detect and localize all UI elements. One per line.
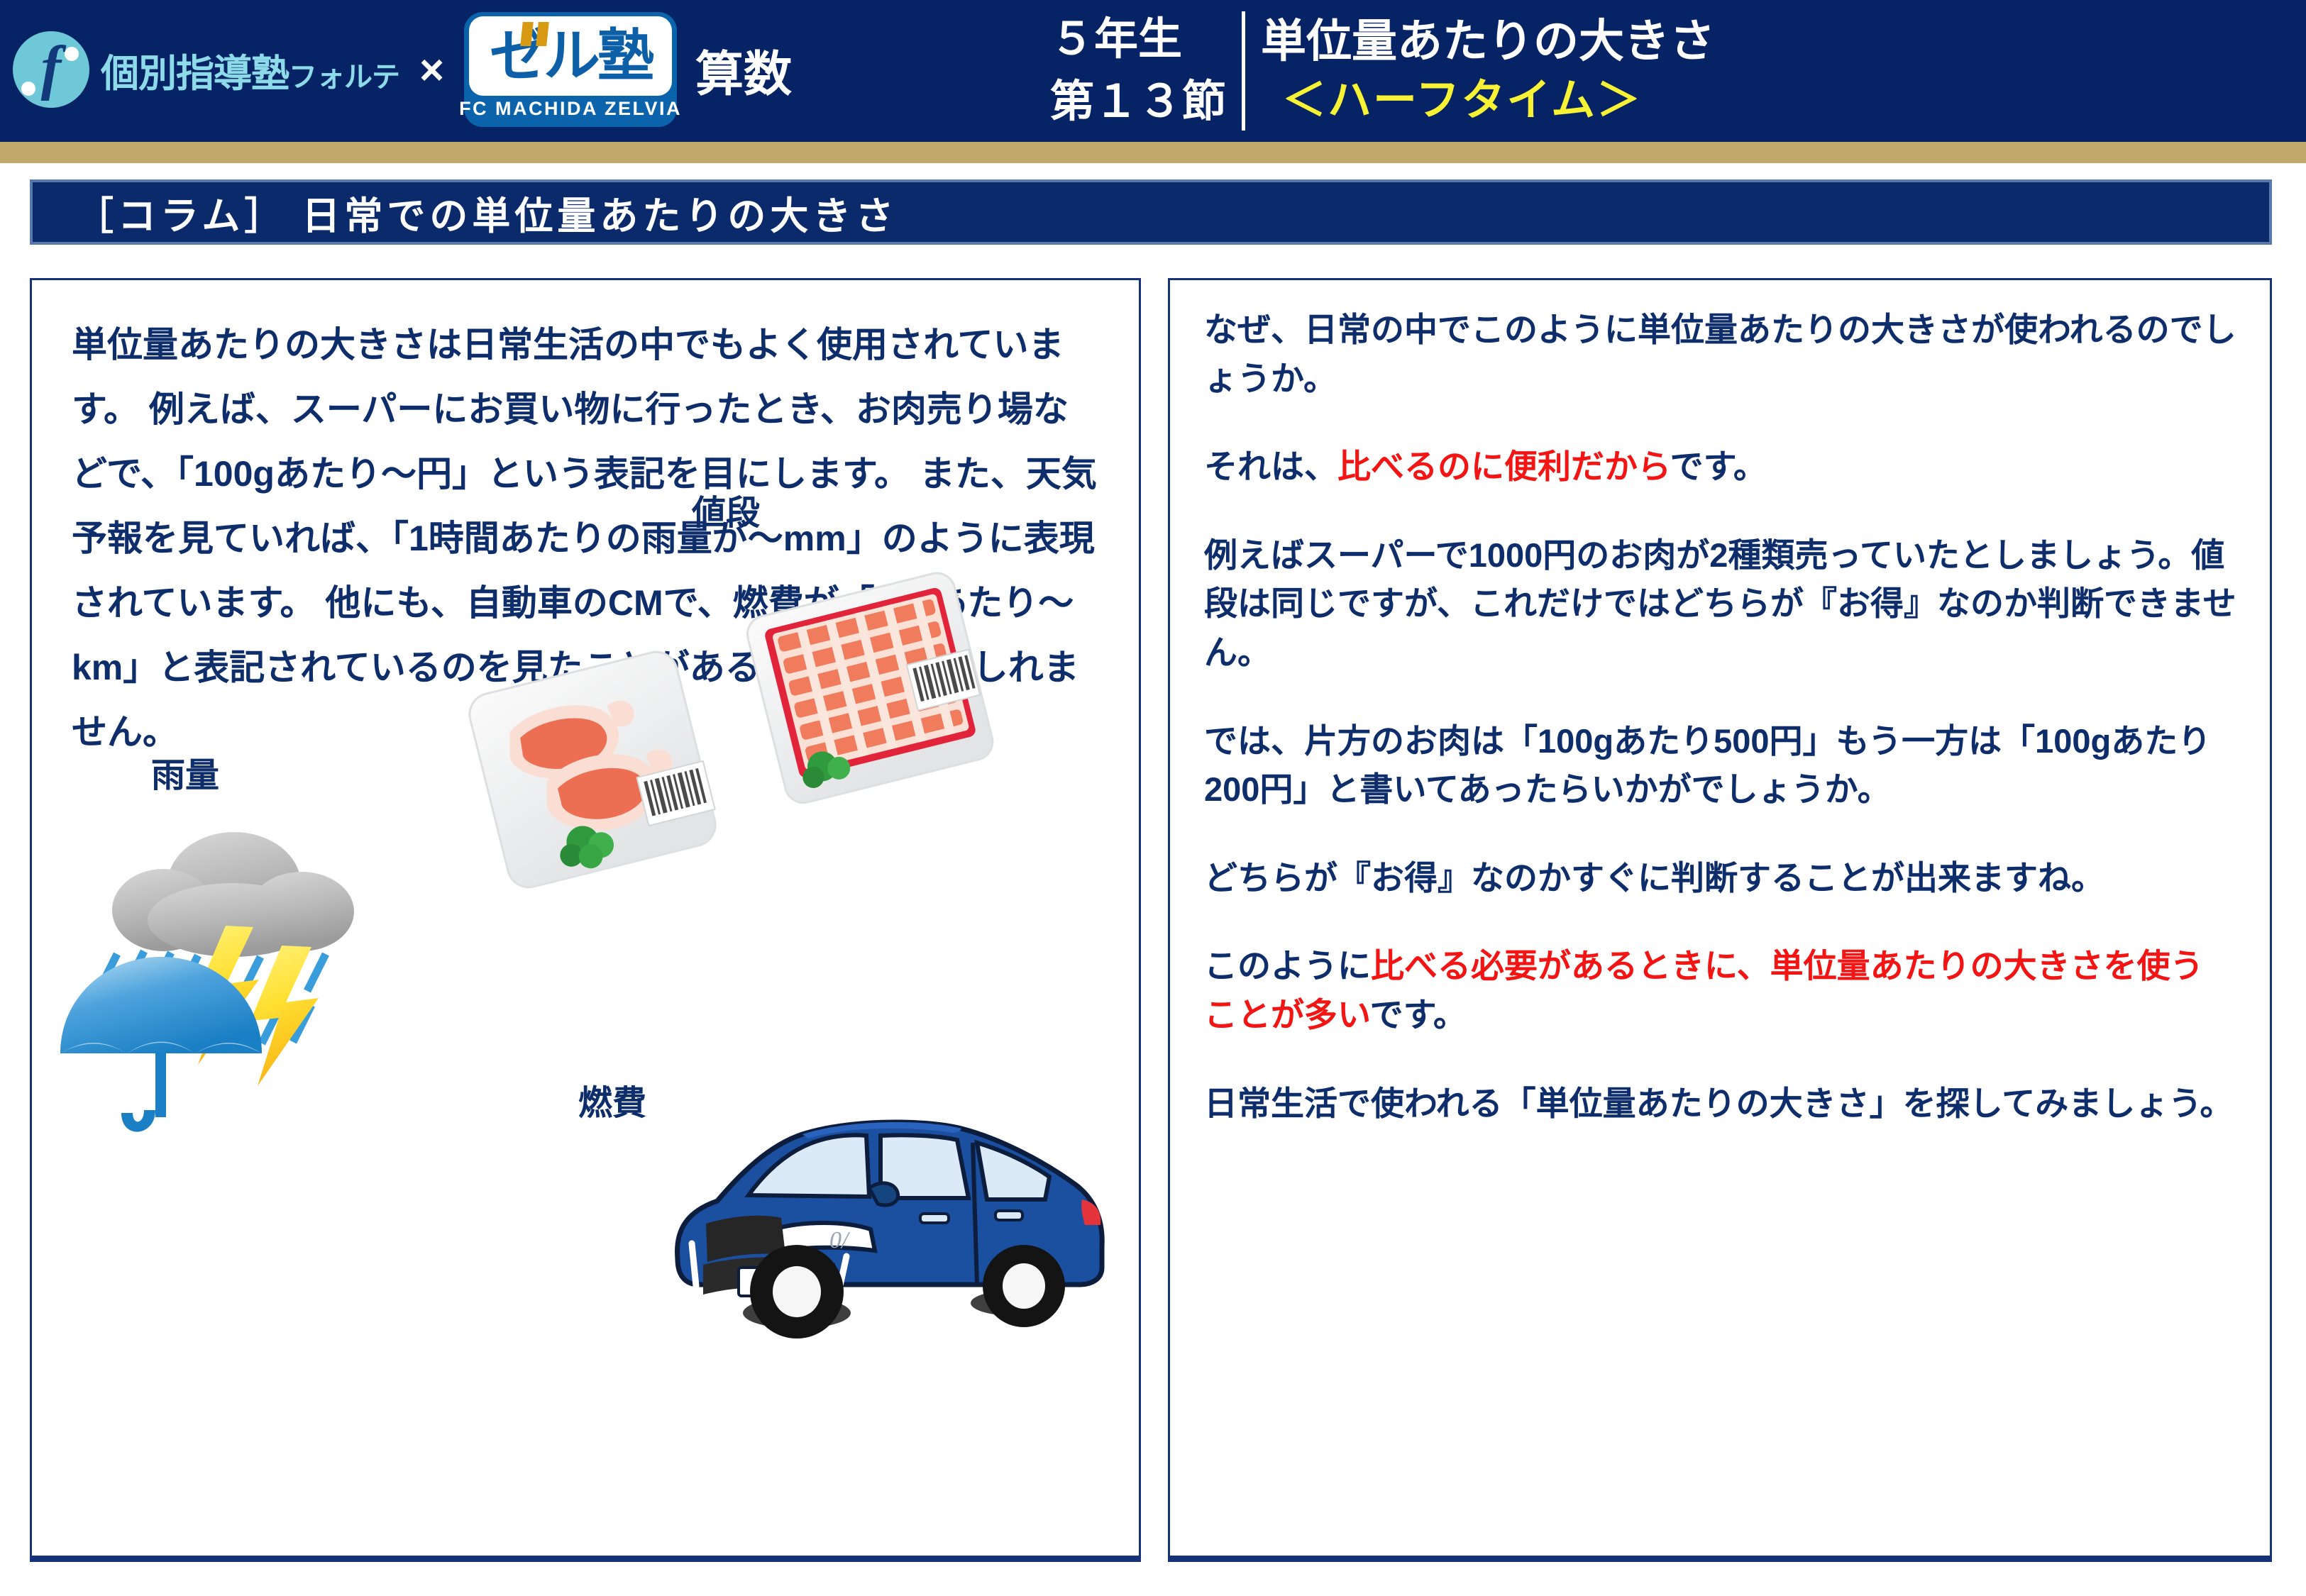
page-title: 単位量あたりの大きさ <box>1261 12 1715 71</box>
forte-logo-icon: f <box>13 31 89 108</box>
forte-dot-bottom-left-icon <box>21 82 35 96</box>
page-subtitle: ＜ハーフタイム＞ <box>1282 71 1642 131</box>
subject-label: 算数 <box>695 35 792 105</box>
zelvia-dakuten-icon <box>522 22 553 46</box>
right-paragraph-5-segment-1: どちらが『お得』なのかすぐに判断することが出来ますね。 <box>1204 859 2104 897</box>
column-title-text: ［コラム］ 日常での単位量あたりの大きさ <box>75 184 898 240</box>
right-paragraph-6-segment-3: です。 <box>1370 996 1467 1033</box>
right-paragraph-1: なぜ、日常の中でこのように単位量あたりの大きさが使われるのでしょうか。 <box>1204 306 2236 403</box>
front-wheel-icon <box>750 1245 844 1339</box>
right-paragraph-6: このように比べる必要があるときに、単位量あたりの大きさを使うことが多いです。 <box>1204 942 2236 1039</box>
forte-brand-name-sub: フォルテ <box>289 62 399 93</box>
rear-wheel-icon <box>983 1245 1065 1327</box>
fuel-economy-label: 燃費 <box>578 1075 646 1124</box>
right-paragraph-5: どちらが『お得』なのかすぐに判断することが出来ますね。 <box>1204 854 2236 903</box>
right-paragraph-4: では、片方のお肉は「100gあたり500円」もう一方は「100gあたり200円」… <box>1204 717 2236 814</box>
column-title-bar: ［コラム］ 日常での単位量あたりの大きさ <box>30 179 2272 245</box>
right-paragraph-2-segment-1: それは、 <box>1204 448 1337 485</box>
barcode-label-icon <box>637 761 715 826</box>
grade-section-group: ５年生 第１３節 <box>1050 9 1226 133</box>
forte-f-glyph: f <box>41 37 62 98</box>
left-content-panel: 単位量あたりの大きさは日常生活の中でもよく使用されています。 例えば、スーパーに… <box>30 278 1141 1562</box>
header-divider <box>1242 11 1245 131</box>
header-title-block: ５年生 第１３節 単位量あたりの大きさ ＜ハーフタイム＞ <box>1050 4 1715 138</box>
right-paragraph-3: 例えばスーパーで1000円のお肉が2種類売っていたとしましょう。値段は同じですが… <box>1204 531 2236 677</box>
cross-icon: × <box>419 45 444 94</box>
zelvia-logo-text: ゼル塾 <box>490 28 651 84</box>
page-header: f 個別指導塾フォルテ × ゼル塾 FC MACHIDA ZELVIA 算数 ５… <box>0 0 2306 142</box>
rain-cloud-lightning-icon <box>53 805 451 1138</box>
parsley-garnish-icon <box>554 819 619 875</box>
grade-label: ５年生 <box>1050 9 1182 71</box>
forte-dot-top-right-icon <box>65 47 79 61</box>
forte-brand-name: 個別指導塾フォルテ <box>101 42 399 98</box>
right-paragraph-3-segment-1: 例えばスーパーで1000円のお肉が2種類売っていたとしましょう。値段は同じですが… <box>1204 536 2236 671</box>
right-panel-text: なぜ、日常の中でこのように単位量あたりの大きさが使われるのでしょうか。それは、比… <box>1204 306 2236 1128</box>
topic-group: 単位量あたりの大きさ ＜ハーフタイム＞ <box>1261 12 1715 131</box>
right-paragraph-1-segment-1: なぜ、日常の中でこのように単位量あたりの大きさが使われるのでしょうか。 <box>1204 311 2236 397</box>
gold-divider-stripe <box>0 142 2306 163</box>
right-paragraph-2-segment-2: 比べるのに便利だから <box>1337 448 1670 485</box>
forte-brand-name-main: 個別指導塾 <box>101 52 289 95</box>
right-paragraph-2: それは、比べるのに便利だからです。 <box>1204 443 2236 492</box>
brand-cluster: f 個別指導塾フォルテ × ゼル塾 FC MACHIDA ZELVIA 算数 <box>13 6 792 133</box>
umbrella-icon <box>60 957 262 1132</box>
zelvia-logo-icon: ゼル塾 FC MACHIDA ZELVIA <box>464 12 677 127</box>
cloud-shape <box>112 832 354 957</box>
zelvia-logo-plate: ゼル塾 <box>469 16 672 96</box>
right-paragraph-2-segment-3: です。 <box>1670 448 1767 485</box>
right-paragraph-4-segment-1: では、片方のお肉は「100gあたり500円」もう一方は「100gあたり200円」… <box>1204 722 2211 809</box>
right-paragraph-6-segment-1: このように <box>1204 947 1371 985</box>
rain-dashes <box>82 951 326 1045</box>
section-label: 第１３節 <box>1050 71 1226 133</box>
right-paragraph-7-segment-1: 日常生活で使われる「単位量あたりの大きさ」を探してみましょう。 <box>1204 1085 2233 1122</box>
lightning-bolt-icon <box>192 926 319 1086</box>
zelvia-logo-subtext: FC MACHIDA ZELVIA <box>459 98 682 120</box>
right-content-panel: なぜ、日常の中でこのように単位量あたりの大きさが使われるのでしょうか。それは、比… <box>1168 278 2272 1562</box>
left-panel-text: 単位量あたりの大きさは日常生活の中でもよく使用されています。 例えば、スーパーに… <box>72 313 1100 765</box>
car-icon: 0/ <box>656 1082 1125 1351</box>
right-paragraph-7: 日常生活で使われる「単位量あたりの大きさ」を探してみましょう。 <box>1204 1080 2236 1129</box>
worksheet-page: f 個別指導塾フォルテ × ゼル塾 FC MACHIDA ZELVIA 算数 ５… <box>0 0 2306 1596</box>
headlight-glyph: 0/ <box>829 1227 851 1253</box>
